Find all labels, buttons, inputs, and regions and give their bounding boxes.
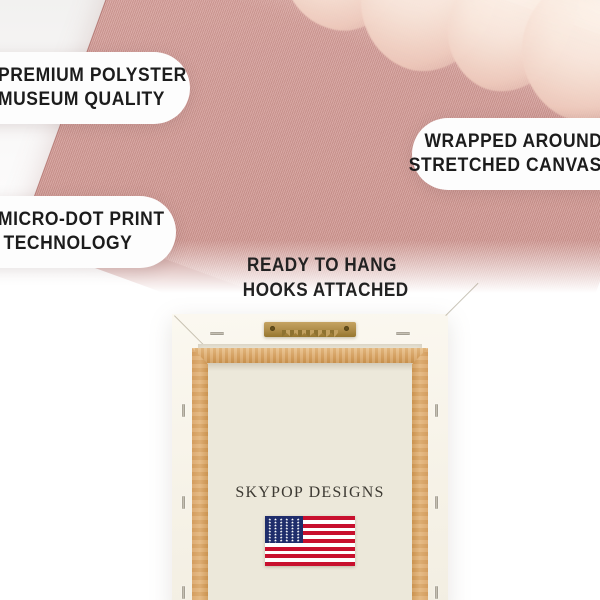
flag-stripe: [265, 562, 355, 566]
flag-star: [268, 533, 271, 536]
flag-star: [291, 533, 294, 536]
flag-stripe: [265, 554, 355, 558]
flag-star: [280, 539, 283, 542]
feature-line-1: PREMIUM POLYSTER: [0, 64, 151, 88]
flag-star: [274, 536, 277, 539]
feature-line-2: MUSEUM QUALITY: [0, 88, 151, 112]
flag-star: [268, 527, 271, 530]
flag-star: [268, 542, 271, 545]
flag-star: [297, 539, 300, 542]
flag-star: [268, 530, 271, 533]
stretcher-bar-shadow: [208, 363, 412, 371]
flag-star: [280, 527, 283, 530]
flag-star: [285, 524, 288, 527]
feature-callout-micro-dot-print: MICRO-DOT PRINT TECHNOLOGY: [0, 196, 176, 268]
flag-star: [291, 521, 294, 524]
flag-star: [274, 524, 277, 527]
flag-star: [285, 521, 288, 524]
flag-stripe: [265, 547, 355, 551]
flag-star: [291, 527, 294, 530]
flag-star: [280, 521, 283, 524]
feature-line-1: WRAPPED AROUND: [424, 130, 600, 154]
flag-star: [297, 533, 300, 536]
flag-star: [285, 539, 288, 542]
flag-star: [274, 539, 277, 542]
product-marketing-image: PREMIUM POLYSTER MUSEUM QUALITY WRAPPED …: [0, 0, 600, 600]
staple: [182, 404, 185, 417]
flag-star: [291, 539, 294, 542]
flag-star: [297, 536, 300, 539]
feature-line-1: MICRO-DOT PRINT: [0, 208, 138, 232]
flag-star: [268, 536, 271, 539]
usa-flag-icon: [265, 516, 355, 566]
flag-star: [280, 536, 283, 539]
staple: [396, 332, 410, 335]
flag-star: [297, 530, 300, 533]
flag-star: [274, 527, 277, 530]
feature-callout-premium-polyster: PREMIUM POLYSTER MUSEUM QUALITY: [0, 52, 190, 124]
canvas-back-view: SKYPOP DESIGNS: [172, 314, 448, 600]
flag-star: [280, 518, 283, 521]
feature-line-2: STRETCHED CANVAS: [409, 154, 600, 178]
flag-star: [291, 530, 294, 533]
flag-canton: [265, 516, 303, 543]
flag-star: [280, 533, 283, 536]
flag-star: [274, 518, 277, 521]
brand-block: SKYPOP DESIGNS: [172, 484, 448, 566]
feature-callout-ready-to-hang: READY TO HANG HOOKS ATTACHED: [234, 254, 410, 303]
flag-star: [285, 518, 288, 521]
flag-star: [291, 518, 294, 521]
flag-star: [274, 521, 277, 524]
flag-star: [285, 530, 288, 533]
staple: [435, 586, 438, 599]
flag-star: [297, 524, 300, 527]
feature-line-2: TECHNOLOGY: [0, 232, 138, 256]
flag-star: [297, 521, 300, 524]
hanger-screw-hole: [344, 326, 349, 331]
flag-star: [274, 542, 277, 545]
flag-star: [274, 530, 277, 533]
stretcher-bar-top: [192, 348, 428, 363]
feature-line-1: READY TO HANG: [243, 254, 401, 279]
flag-star: [274, 533, 277, 536]
flag-star: [280, 524, 283, 527]
flag-star: [285, 533, 288, 536]
flag-star: [268, 539, 271, 542]
feature-line-2: HOOKS ATTACHED: [243, 279, 401, 304]
flag-star: [280, 530, 283, 533]
flag-star: [297, 518, 300, 521]
flag-star: [268, 521, 271, 524]
flag-star: [268, 518, 271, 521]
flag-star: [285, 527, 288, 530]
flag-star: [291, 536, 294, 539]
sawtooth-hanger-icon: [264, 322, 356, 337]
flag-star: [285, 536, 288, 539]
flag-star: [291, 524, 294, 527]
flag-stars: [267, 518, 301, 541]
feature-callout-wrapped-around: WRAPPED AROUND STRETCHED CANVAS: [412, 118, 600, 190]
staple: [435, 404, 438, 417]
hanger-screw-hole: [270, 326, 275, 331]
flag-star: [297, 527, 300, 530]
staple: [210, 332, 224, 335]
brand-name: SKYPOP DESIGNS: [172, 484, 448, 502]
hanger-teeth: [282, 330, 338, 337]
staple: [182, 586, 185, 599]
flag-star: [268, 524, 271, 527]
